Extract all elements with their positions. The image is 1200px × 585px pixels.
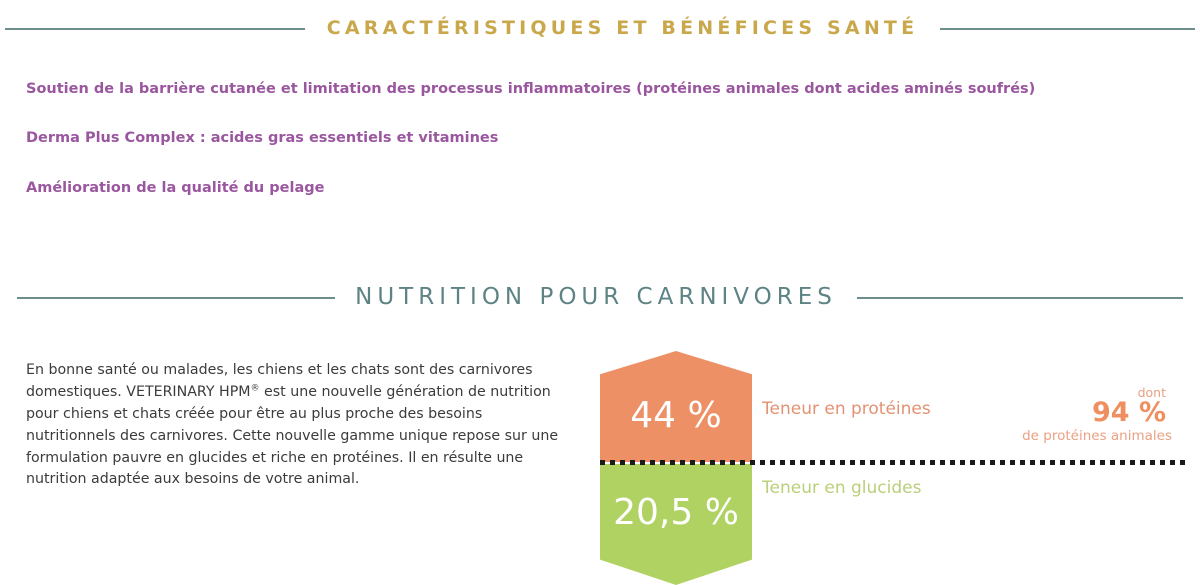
header-rule-right bbox=[940, 28, 1195, 30]
chart-dotted-divider bbox=[600, 460, 1190, 465]
header-rule-right bbox=[857, 297, 1183, 299]
callout-suffix: de protéines animales bbox=[960, 429, 1172, 445]
legend-label-proteins: Teneur en protéines bbox=[762, 399, 952, 419]
legend-label-carbs: Teneur en glucides bbox=[762, 478, 921, 498]
carb-value-label: 20,5 % bbox=[613, 492, 739, 533]
benefit-item-1: Soutien de la barrière cutanée et limita… bbox=[26, 79, 1096, 100]
registered-mark: ® bbox=[251, 383, 260, 393]
header-rule-left bbox=[5, 28, 305, 30]
callout-value: 94 % bbox=[960, 399, 1166, 427]
section-title-caracteristiques: CARACTÉRISTIQUES ET BÉNÉFICES SANTÉ bbox=[305, 19, 941, 38]
benefit-item-3: Amélioration de la qualité du pelage bbox=[26, 178, 1096, 199]
hexagon-segment-carbs: 20,5 % bbox=[600, 464, 752, 585]
hexagon-segment-proteins: 44 % bbox=[600, 351, 752, 462]
nutrition-hexagon-chart: 44 % 20,5 % bbox=[600, 351, 752, 585]
section-header-nutrition: NUTRITION POUR CARNIVORES bbox=[0, 286, 1200, 309]
benefit-item-2: Derma Plus Complex : acides gras essenti… bbox=[26, 128, 1096, 149]
section-header-caracteristiques: CARACTÉRISTIQUES ET BÉNÉFICES SANTÉ bbox=[0, 19, 1200, 38]
protein-value-label: 44 % bbox=[630, 395, 721, 436]
nutrition-paragraph: En bonne santé ou malades, les chiens et… bbox=[26, 360, 574, 491]
section-title-nutrition: NUTRITION POUR CARNIVORES bbox=[335, 286, 857, 309]
header-rule-left bbox=[17, 297, 335, 299]
benefits-list: Soutien de la barrière cutanée et limita… bbox=[26, 79, 1096, 199]
animal-protein-callout: dont 94 % de protéines animales bbox=[960, 386, 1172, 445]
